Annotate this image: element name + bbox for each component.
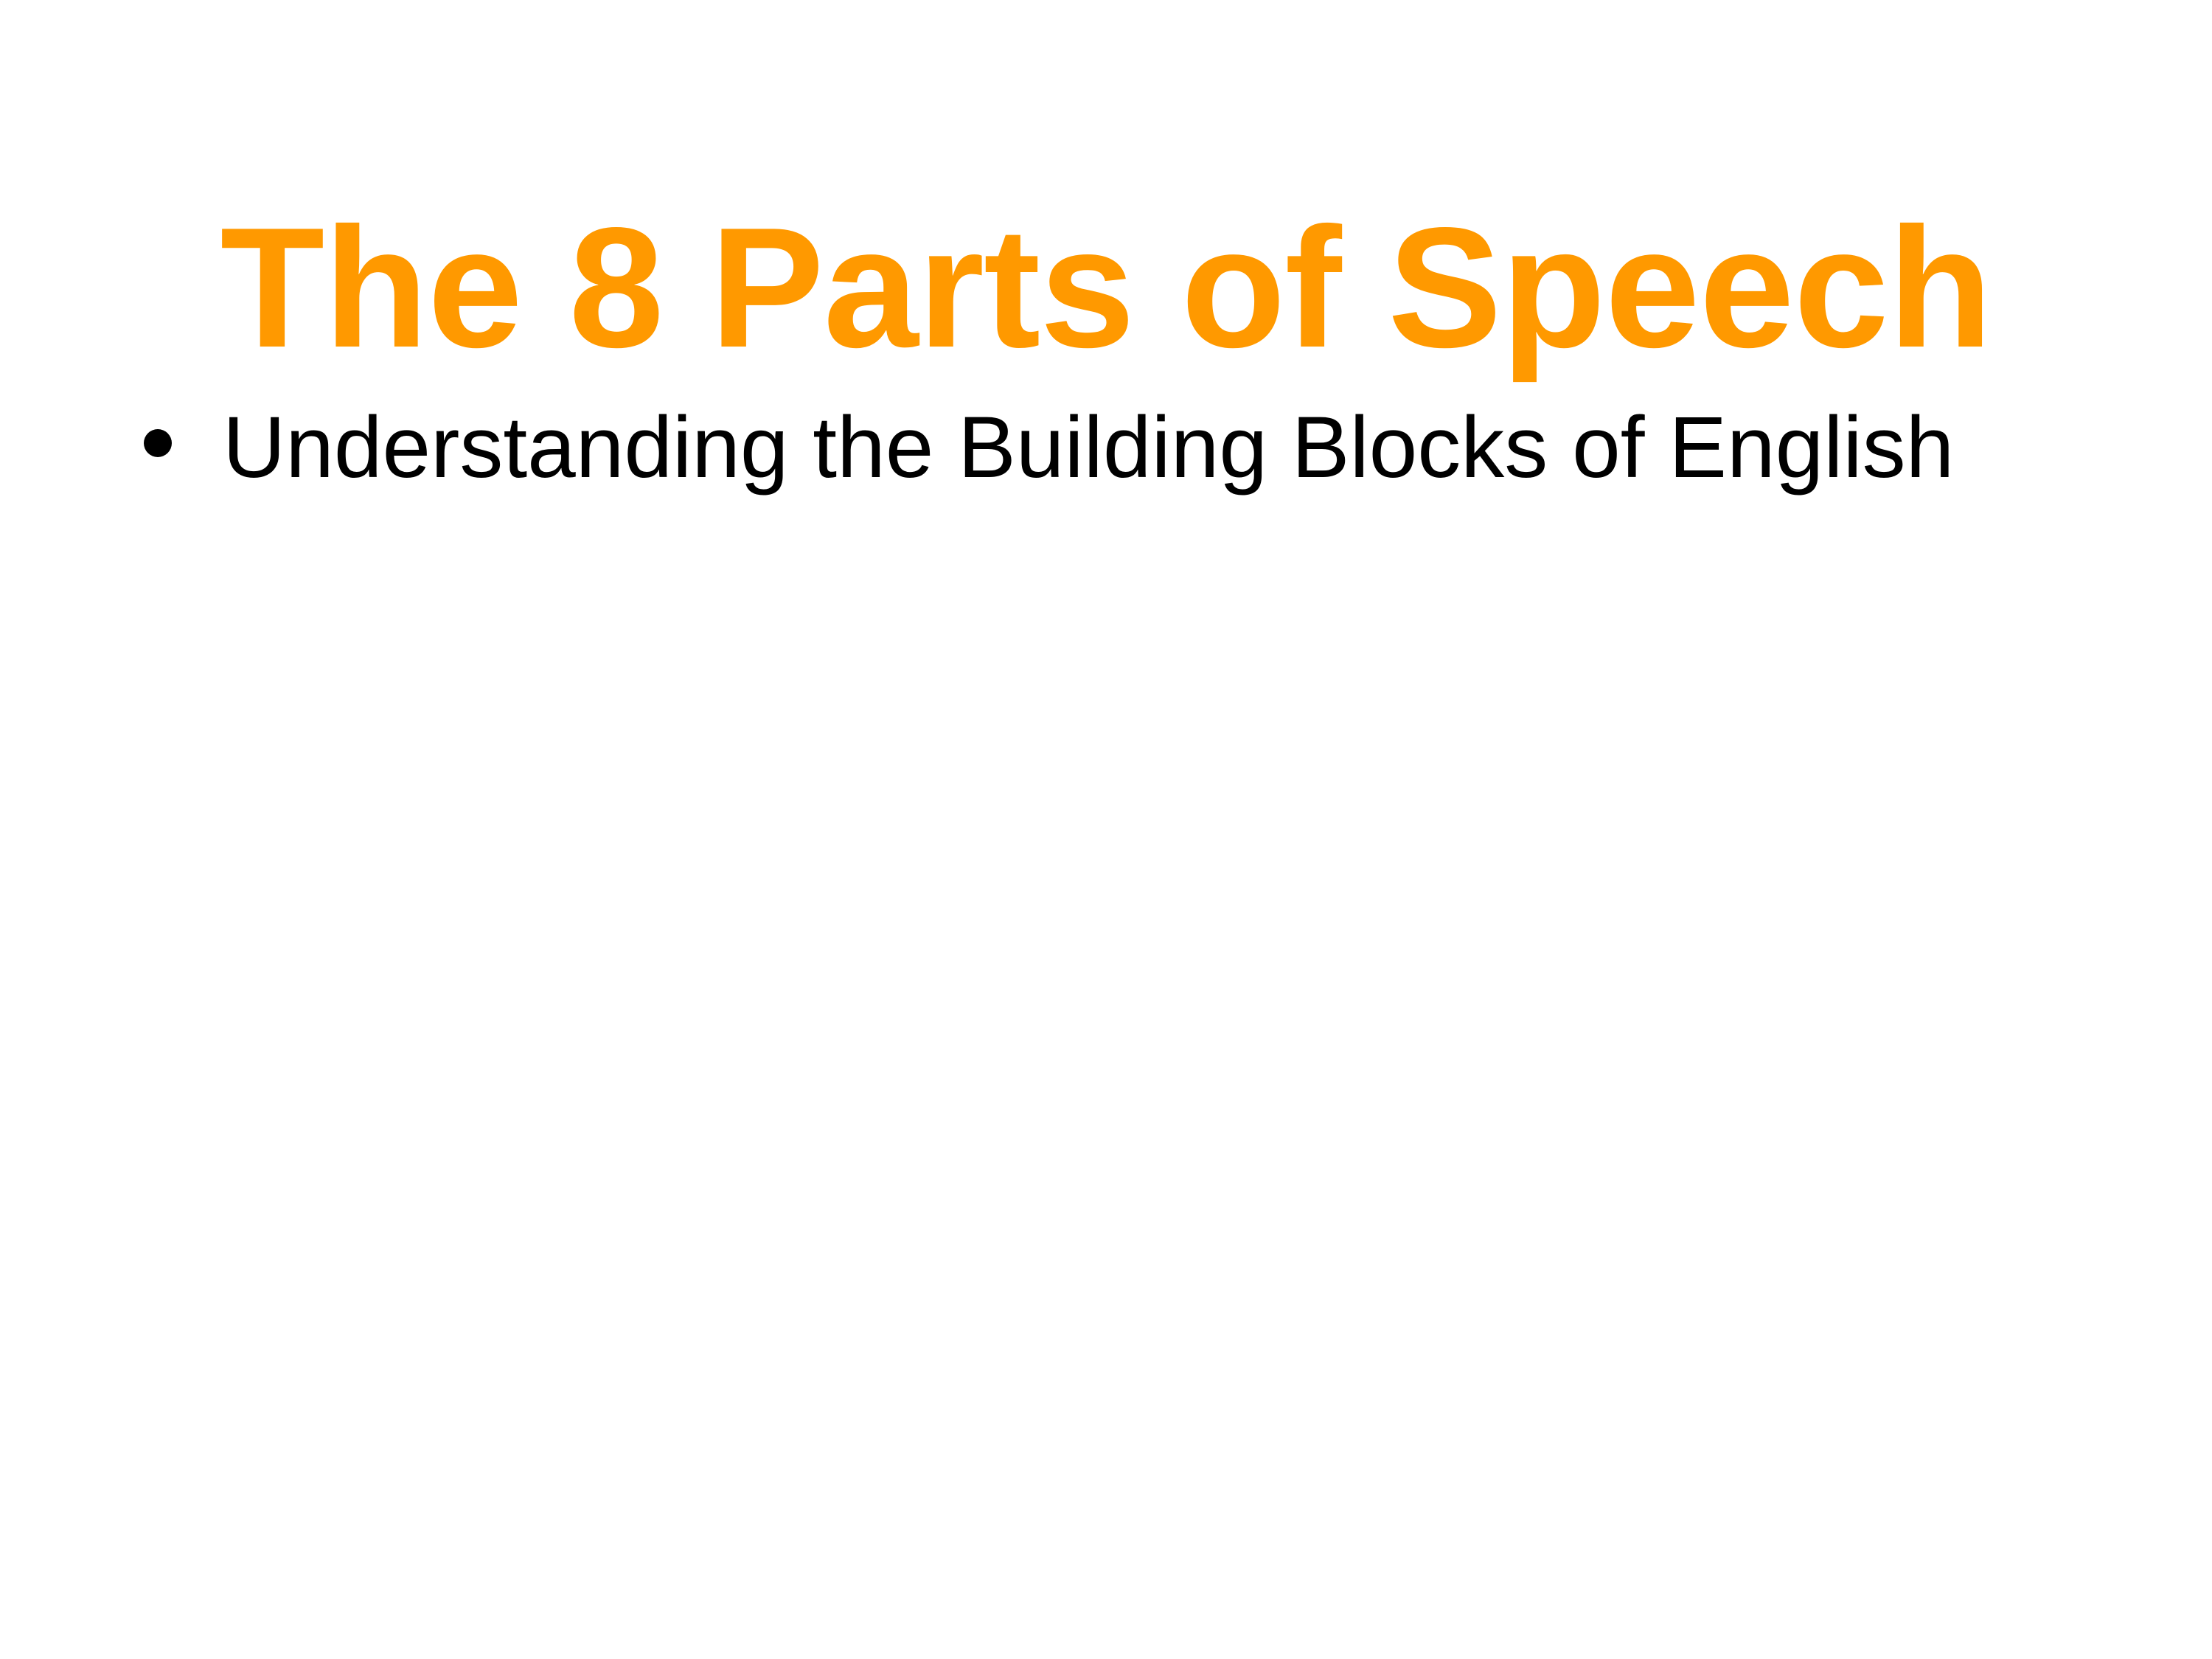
page-title: The 8 Parts of Speech	[220, 203, 1992, 374]
presentation-slide: The 8 Parts of Speech Understanding the …	[0, 0, 2212, 1659]
empty-content-area	[0, 531, 2212, 1659]
list-item-label: Understanding the Building Blocks of Eng…	[223, 398, 1954, 498]
slide-body-placeholder: Understanding the Building Blocks of Eng…	[0, 398, 2212, 518]
bullet-list: Understanding the Building Blocks of Eng…	[0, 398, 2212, 498]
bullet-dot-icon	[144, 429, 172, 457]
list-item: Understanding the Building Blocks of Eng…	[0, 398, 2212, 498]
